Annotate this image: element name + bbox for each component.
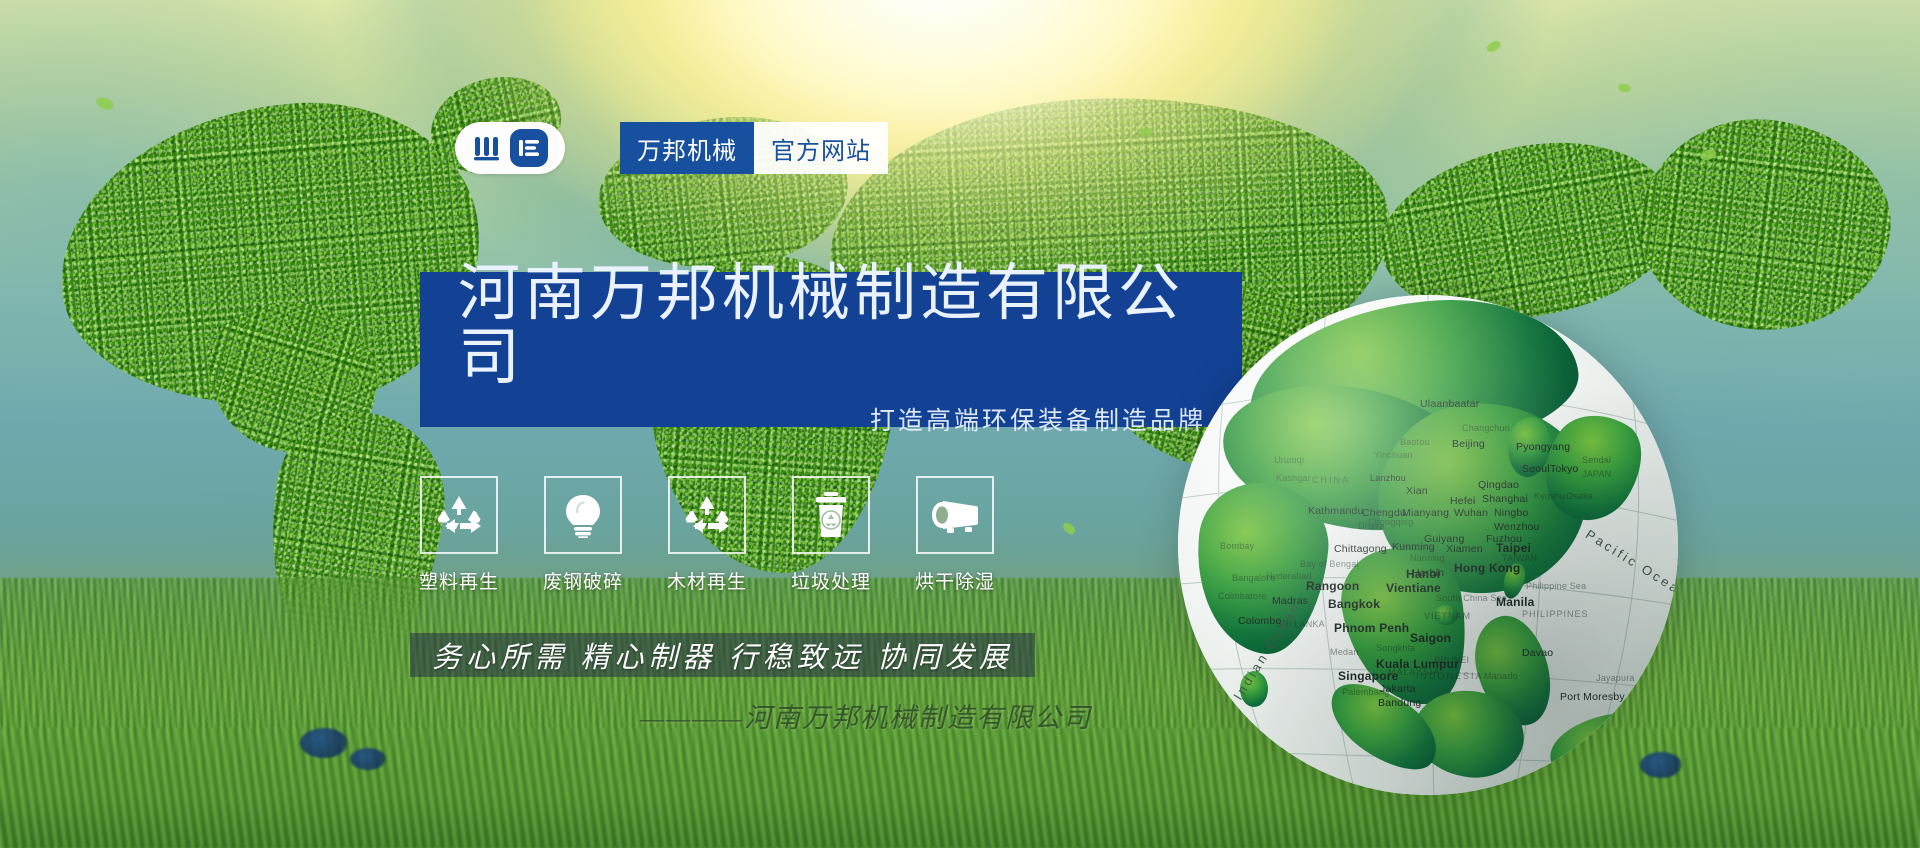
feature-icon-row: 塑料再生 废钢破碎	[420, 476, 994, 594]
feature-waste-treatment[interactable]: 垃圾处理	[792, 476, 870, 594]
globe-city-label: Phnom Penh	[1334, 621, 1409, 635]
feature-label: 木材再生	[667, 567, 747, 594]
globe-city-label: Urumqi	[1274, 455, 1304, 465]
slogan-attribution: ————河南万邦机械制造有限公司	[640, 696, 1200, 735]
globe-city-label: Ningbo	[1494, 507, 1528, 519]
globe-city-label: Xian	[1406, 485, 1428, 497]
page-title: 河南万邦机械制造有限公司	[458, 262, 1206, 388]
globe-country-label: VIETNAM	[1424, 611, 1471, 621]
globe-city-label: Sendai	[1582, 455, 1611, 465]
recycle-icon	[668, 476, 746, 554]
globe-city-label: Saigon	[1410, 631, 1451, 645]
globe-city-label: Davao	[1522, 647, 1553, 659]
globe-country-label: PHILIPPINES	[1522, 609, 1589, 619]
globe-country-label: INDONESIA	[1416, 671, 1484, 681]
globe-sphere: Ulaanbaatar Beijing Baotou Yinchuan Lanz…	[1178, 295, 1678, 795]
globe-city-label: Coimbatore	[1218, 591, 1267, 601]
globe-city-label: Jayapura	[1596, 673, 1635, 683]
globe-city-label: Kathmandu	[1308, 505, 1364, 517]
globe-city-label: Baotou	[1400, 437, 1430, 447]
globe-country-label: JAPAN	[1582, 469, 1611, 479]
globe-city-label: Wenzhou	[1494, 521, 1540, 533]
globe-city-label: Manado	[1484, 671, 1518, 681]
feature-plastic-recycling[interactable]: 塑料再生	[420, 476, 498, 594]
globe-graphic: Ulaanbaatar Beijing Baotou Yinchuan Lanz…	[1178, 295, 1678, 795]
lightbulb-icon	[544, 476, 622, 554]
nav-item-official-site[interactable]: 官方网站	[754, 122, 888, 174]
globe-city-label: Songkhla	[1376, 643, 1415, 653]
globe-city-label: Seoul	[1522, 463, 1550, 475]
feature-label: 废钢破碎	[543, 567, 623, 594]
globe-country-label: TAIWAN	[1502, 553, 1537, 563]
feature-steel-crushing[interactable]: 废钢破碎	[544, 476, 622, 594]
globe-country-label: BRUNEI	[1434, 655, 1469, 665]
globe-sea-label: Philippine Sea	[1526, 581, 1586, 591]
globe-country-label: CHINA	[1312, 475, 1350, 485]
globe-city-label: Beijing	[1452, 438, 1485, 450]
globe-city-label: Bangalore	[1232, 573, 1275, 583]
logo-b-mark	[510, 129, 548, 167]
main-nav: 万邦机械 官方网站	[620, 122, 888, 174]
globe-city-label: Jakarta	[1380, 683, 1416, 695]
globe-city-label: Bandung	[1378, 697, 1421, 709]
globe-sea-label: South China Sea	[1436, 593, 1507, 603]
globe-city-label: Kyushu	[1534, 491, 1565, 501]
globe-city-label: Qingdao	[1478, 479, 1519, 491]
globe-city-label: Pyongyang	[1516, 441, 1570, 453]
page-content: 万邦机械 官方网站 河南万邦机械制造有限公司 打造高端环保装备制造品牌	[0, 0, 1920, 848]
globe-city-label: Osaka	[1566, 491, 1593, 501]
site-header: 万邦机械 官方网站	[455, 122, 888, 174]
trash-bin-recycle-icon	[792, 476, 870, 554]
globe-city-label: Bombay	[1220, 541, 1254, 551]
globe-city-label: Medan	[1330, 647, 1359, 657]
globe-city-label: Kashgar	[1276, 473, 1311, 483]
globe-city-label: Ulaanbaatar	[1420, 398, 1479, 410]
globe-city-label: Shanghai	[1482, 493, 1528, 505]
globe-city-label: Port Moresby	[1560, 691, 1625, 703]
globe-sea-label: Bay of Bengal	[1300, 559, 1359, 569]
hero-title-panel: 河南万邦机械制造有限公司 打造高端环保装备制造品牌	[420, 272, 1242, 427]
globe-city-label: Lanzhou	[1370, 473, 1406, 483]
feature-drying-dehumidifying[interactable]: 烘干除湿	[916, 476, 994, 594]
recycle-icon	[420, 476, 498, 554]
globe-city-label: Changchun	[1462, 423, 1510, 433]
feature-label: 垃圾处理	[791, 567, 871, 594]
globe-city-label: Hong Kong	[1454, 561, 1520, 575]
globe-city-label: Vientiane	[1386, 581, 1441, 595]
slogan-text: 务心所需 精心制器 行稳致远 协同发展	[432, 634, 1013, 676]
globe-city-label: Rangoon	[1306, 579, 1359, 593]
feature-label: 塑料再生	[419, 567, 499, 594]
globe-city-label: Wuhan	[1454, 507, 1488, 519]
globe-city-label: Hefei	[1450, 495, 1476, 507]
globe-city-label: Dhaka	[1358, 521, 1385, 531]
globe-city-label: Yinchuan	[1374, 450, 1413, 460]
globe-city-label: Chittagong	[1334, 543, 1387, 555]
wanbang-logo-icon[interactable]	[455, 122, 565, 174]
nav-item-brand[interactable]: 万邦机械	[620, 122, 754, 174]
globe-city-label: Nanning	[1410, 553, 1445, 563]
slogan-banner: 务心所需 精心制器 行稳致远 协同发展	[410, 633, 1035, 677]
feature-wood-recycling[interactable]: 木材再生	[668, 476, 746, 594]
dryer-machine-icon	[916, 476, 994, 554]
feature-label: 烘干除湿	[915, 567, 995, 594]
globe-city-label: Tokyo	[1550, 463, 1578, 475]
globe-city-label: Hanoi	[1406, 567, 1440, 581]
globe-city-label: Kunming	[1392, 541, 1435, 553]
globe-city-label: Bangkok	[1328, 597, 1380, 611]
page-subtitle: 打造高端环保装备制造品牌	[458, 401, 1206, 437]
